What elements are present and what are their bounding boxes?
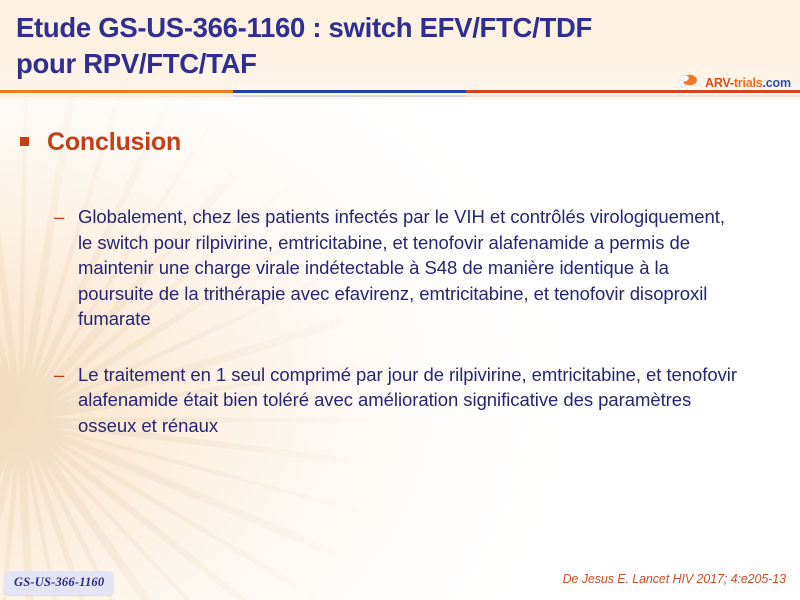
logo-text-com: .com — [763, 76, 791, 90]
divider-shadow-grey — [466, 95, 800, 97]
section-heading-label: Conclusion — [47, 128, 181, 157]
list-item: – Globalement, chez les patients infecté… — [54, 204, 744, 332]
logo-text-trials: trials — [734, 76, 763, 90]
header-divider-shadow — [0, 95, 800, 97]
list-item: – Le traitement en 1 seul comprimé par j… — [54, 362, 744, 439]
slide-header: Etude GS-US-366-1160 : switch EFV/FTC/TD… — [0, 0, 800, 100]
list-item-text: Globalement, chez les patients infectés … — [78, 204, 744, 332]
study-id-badge: GS-US-366-1160 — [4, 571, 114, 595]
bullet-list: – Globalement, chez les patients infecté… — [54, 204, 744, 468]
slide-body: Conclusion – Globalement, chez les patie… — [0, 100, 800, 560]
logo-wordmark: ARV-trials.com — [705, 76, 791, 90]
divider-segment-orange — [0, 90, 233, 93]
square-bullet-icon — [20, 137, 29, 146]
slide: Etude GS-US-366-1160 : switch EFV/FTC/TD… — [0, 0, 800, 600]
logo-text-arv: ARV- — [705, 76, 734, 90]
page-title: Etude GS-US-366-1160 : switch EFV/FTC/TD… — [16, 10, 676, 82]
list-item-text: Le traitement en 1 seul comprimé par jou… — [78, 362, 744, 439]
dash-bullet-icon: – — [54, 204, 78, 230]
dash-bullet-icon: – — [54, 362, 78, 388]
divider-shadow-blue — [233, 95, 466, 97]
divider-shadow-cream — [0, 95, 233, 97]
header-divider — [0, 90, 800, 93]
reference-citation: De Jesus E. Lancet HIV 2017; 4:e205-13 — [563, 572, 786, 586]
divider-segment-blue — [233, 90, 466, 93]
section-heading: Conclusion — [20, 128, 181, 157]
divider-segment-red — [466, 90, 800, 93]
